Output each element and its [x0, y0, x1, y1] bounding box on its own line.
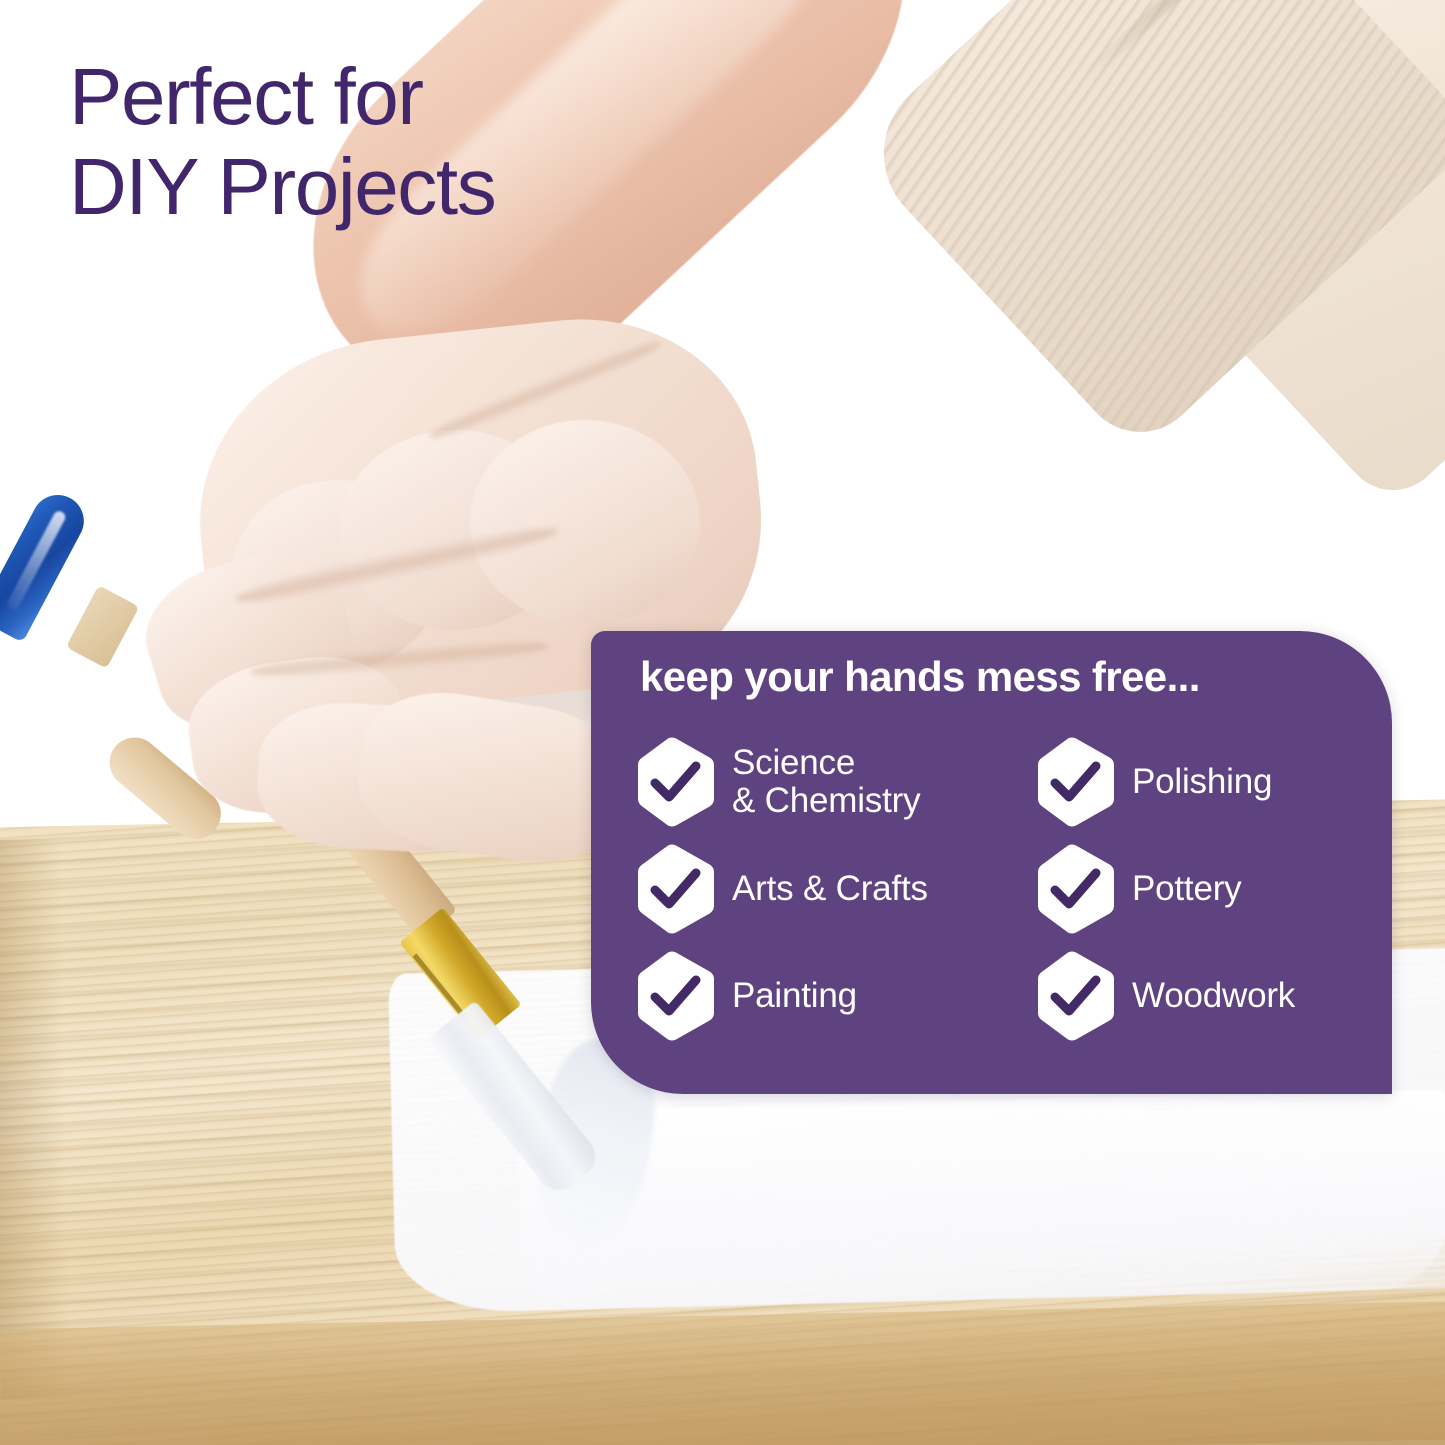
feature-item-label: Pottery: [1132, 870, 1241, 908]
check-hexagon-icon: [1036, 950, 1116, 1042]
pen-body: [66, 585, 139, 668]
blue-pen-cap: [0, 486, 93, 643]
check-hexagon-icon: [636, 843, 716, 935]
check-hexagon-icon: [636, 736, 716, 828]
feature-item-label: Science & Chemistry: [732, 744, 920, 820]
feature-item-painting: Painting: [636, 953, 857, 1039]
check-hexagon-icon: [1036, 736, 1116, 828]
feature-item-label: Painting: [732, 977, 857, 1015]
wood-table-left-edge: [0, 839, 71, 1400]
feature-card-title: keep your hands mess free...: [640, 653, 1200, 701]
check-hexagon-icon: [1036, 843, 1116, 935]
feature-item-pottery: Pottery: [1036, 846, 1241, 932]
product-marketing-image: Perfect for DIY Projects keep your hands…: [0, 0, 1445, 1445]
feature-item-woodwork: Woodwork: [1036, 953, 1295, 1039]
glove-knuckle-ring: [470, 420, 700, 625]
white-paint-area-secondary: [518, 1089, 1445, 1310]
feature-item-arts-crafts: Arts & Crafts: [636, 846, 928, 932]
feature-item-polishing: Polishing: [1036, 739, 1272, 825]
feature-item-science-chemistry: Science & Chemistry: [636, 739, 920, 825]
feature-item-label: Arts & Crafts: [732, 870, 928, 908]
feature-item-label: Woodwork: [1132, 977, 1295, 1015]
feature-card: keep your hands mess free... Science & C…: [591, 631, 1392, 1094]
feature-item-label: Polishing: [1132, 763, 1272, 801]
check-hexagon-icon: [636, 950, 716, 1042]
page-title: Perfect for DIY Projects: [69, 52, 495, 231]
